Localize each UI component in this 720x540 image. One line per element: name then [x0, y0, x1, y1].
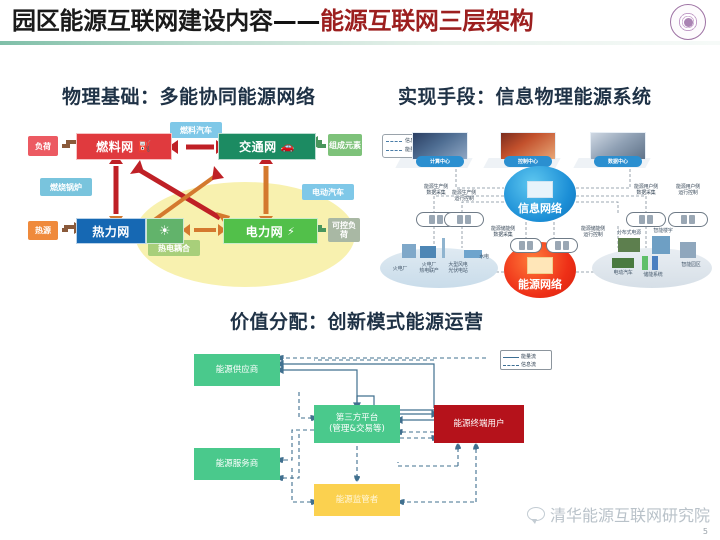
plant-icon-0: [402, 244, 416, 258]
node-fuel-network: 燃料网 ⛽: [76, 133, 172, 160]
title-divider: [0, 41, 720, 45]
slide-canvas: 园区能源互联网建设内容——能源互联网三层架构 物理基础：多能协同能源网络 实现手…: [0, 0, 720, 540]
physical-basis-diagram: 负荷 燃烧锅炉 热源 燃料汽车 热电耦合 组成元素 电动汽车 可控负荷 燃料网 …: [18, 122, 368, 292]
caption-compute-center: 计算中心: [416, 156, 464, 167]
value-box-third-party-platform: 第三方平台 (管理&交易等): [314, 405, 400, 443]
sun-icon: ☀: [159, 225, 171, 238]
section-heading-means: 实现手段：信息物理能源系统: [398, 82, 652, 109]
node-fuel-label: 燃料网: [96, 138, 134, 155]
value-box-platform-sub: (管理&交易等): [329, 424, 385, 435]
platform-label-5: 智能楼宇: [648, 228, 678, 234]
section-heading-physical: 物理基础：多能协同能源网络: [62, 82, 316, 109]
transformer-icon: [527, 257, 553, 274]
platform-label-6: 电动汽车: [608, 270, 638, 276]
wechat-bubble-icon: [527, 507, 545, 521]
node-transport-network: 交通网 🚗: [218, 133, 316, 160]
tsinghua-seal-icon: [670, 4, 706, 40]
node-power-label: 电力网: [246, 223, 284, 240]
value-box-end-user: 能源终端用户: [434, 405, 524, 443]
distributed-energy-icon: [618, 238, 640, 252]
legend-solid-energy-icon: [503, 357, 519, 358]
tag-load: 负荷: [28, 136, 58, 156]
cps-pill-3: [668, 212, 708, 227]
cps-side-label-2: 能源用户侧数据采集: [624, 184, 668, 196]
hub-information-network: 信息网络: [504, 166, 576, 222]
cps-diagram: 信息流 能量流 计: [380, 126, 712, 291]
node-power-network: 电力网 ⚡: [223, 218, 318, 244]
tag-elements: 组成元素: [328, 134, 362, 156]
wind-turbine-icon: [442, 238, 445, 258]
page-title-dash: ——: [273, 7, 320, 35]
value-box-regulator-label: 能源监管者: [336, 495, 379, 506]
page-title: 园区能源互联网建设内容——能源互联网三层架构: [12, 7, 533, 35]
tag-heat-source: 热源: [28, 221, 58, 240]
value-box-supplier: 能源供应商: [194, 354, 280, 386]
legend-dash-info-icon-2: [503, 365, 519, 366]
node-thermal-network: 热力网: [76, 218, 146, 244]
watermark: 清华能源互联网研究院: [527, 502, 710, 526]
storage-icon-b: [652, 256, 658, 270]
value-legend: 能量流 信息流: [500, 350, 552, 370]
lightning-icon: ⚡: [287, 226, 295, 237]
value-box-regulator: 能源监管者: [314, 484, 400, 516]
value-legend-item-0: 能量流: [521, 353, 536, 361]
node-thermal-label: 热力网: [92, 223, 130, 240]
caption-data-center: 数据中心: [594, 156, 642, 167]
value-box-service-provider: 能源服务商: [194, 448, 280, 480]
cps-pill-5: [546, 238, 578, 253]
tag-controllable-load: 可控负荷: [328, 218, 360, 242]
tag-boiler: 燃烧锅炉: [40, 178, 92, 196]
platform-label-3: 水电: [474, 254, 494, 260]
tag-fuel-vehicle: 燃料汽车: [170, 122, 222, 138]
cps-pill-2: [626, 212, 666, 227]
platform-label-2: 大型风电光伏电站: [442, 262, 474, 274]
value-box-service-label: 能源服务商: [216, 459, 259, 470]
storage-icon-a: [642, 256, 648, 270]
section-heading-value: 价值分配：创新模式能源运营: [230, 307, 484, 334]
cps-side-label-4: 能源储能侧数据采集: [480, 226, 526, 238]
page-title-highlight: 能源互联网三层架构: [320, 7, 533, 35]
value-legend-item-1: 信息流: [521, 361, 536, 369]
cps-pill-4: [510, 238, 542, 253]
electric-vehicle-icon: [612, 258, 634, 268]
cps-pill-1: [444, 212, 484, 227]
cps-side-label-3: 能源用户侧运行控制: [666, 184, 710, 196]
hub-energy-label: 能源网络: [518, 276, 562, 292]
platform-label-8: 智能园区: [676, 262, 706, 268]
plant-icon-1: [420, 246, 436, 258]
cps-side-label-1: 能源生产侧运行控制: [442, 190, 486, 202]
page-number: 5: [703, 527, 708, 536]
value-box-platform-label: 第三方平台: [336, 413, 379, 424]
monitor-icon: [527, 181, 553, 198]
node-transport-label: 交通网: [239, 138, 277, 155]
platform-label-4: 分布式电源: [612, 230, 646, 236]
page-title-main: 园区能源互联网建设内容: [12, 7, 273, 35]
cps-side-label-5: 能源储能侧运行控制: [570, 226, 616, 238]
value-box-enduser-label: 能源终端用户: [453, 419, 504, 430]
fuel-pump-icon: ⛽: [138, 141, 152, 152]
tag-electric-vehicle: 电动汽车: [302, 184, 354, 200]
car-icon: 🚗: [281, 141, 295, 152]
platform-label-0: 火电厂: [386, 266, 414, 272]
slide-title-bar: 园区能源互联网建设内容——能源互联网三层架构: [0, 0, 720, 42]
smart-park-icon: [680, 242, 696, 258]
platform-label-7: 储能系统: [638, 272, 668, 278]
value-distribution-diagram: 能源供应商 能源服务商 第三方平台 (管理&交易等) 能源监管者 能源终端用户 …: [186, 348, 546, 520]
value-box-supplier-label: 能源供应商: [216, 365, 259, 376]
hub-information-label: 信息网络: [518, 200, 562, 216]
platform-label-1: 火电厂热电联产: [414, 262, 444, 274]
node-solar-coupler: ☀: [146, 218, 184, 244]
smart-building-icon: [652, 236, 670, 254]
watermark-text: 清华能源互联网研究院: [550, 502, 710, 526]
